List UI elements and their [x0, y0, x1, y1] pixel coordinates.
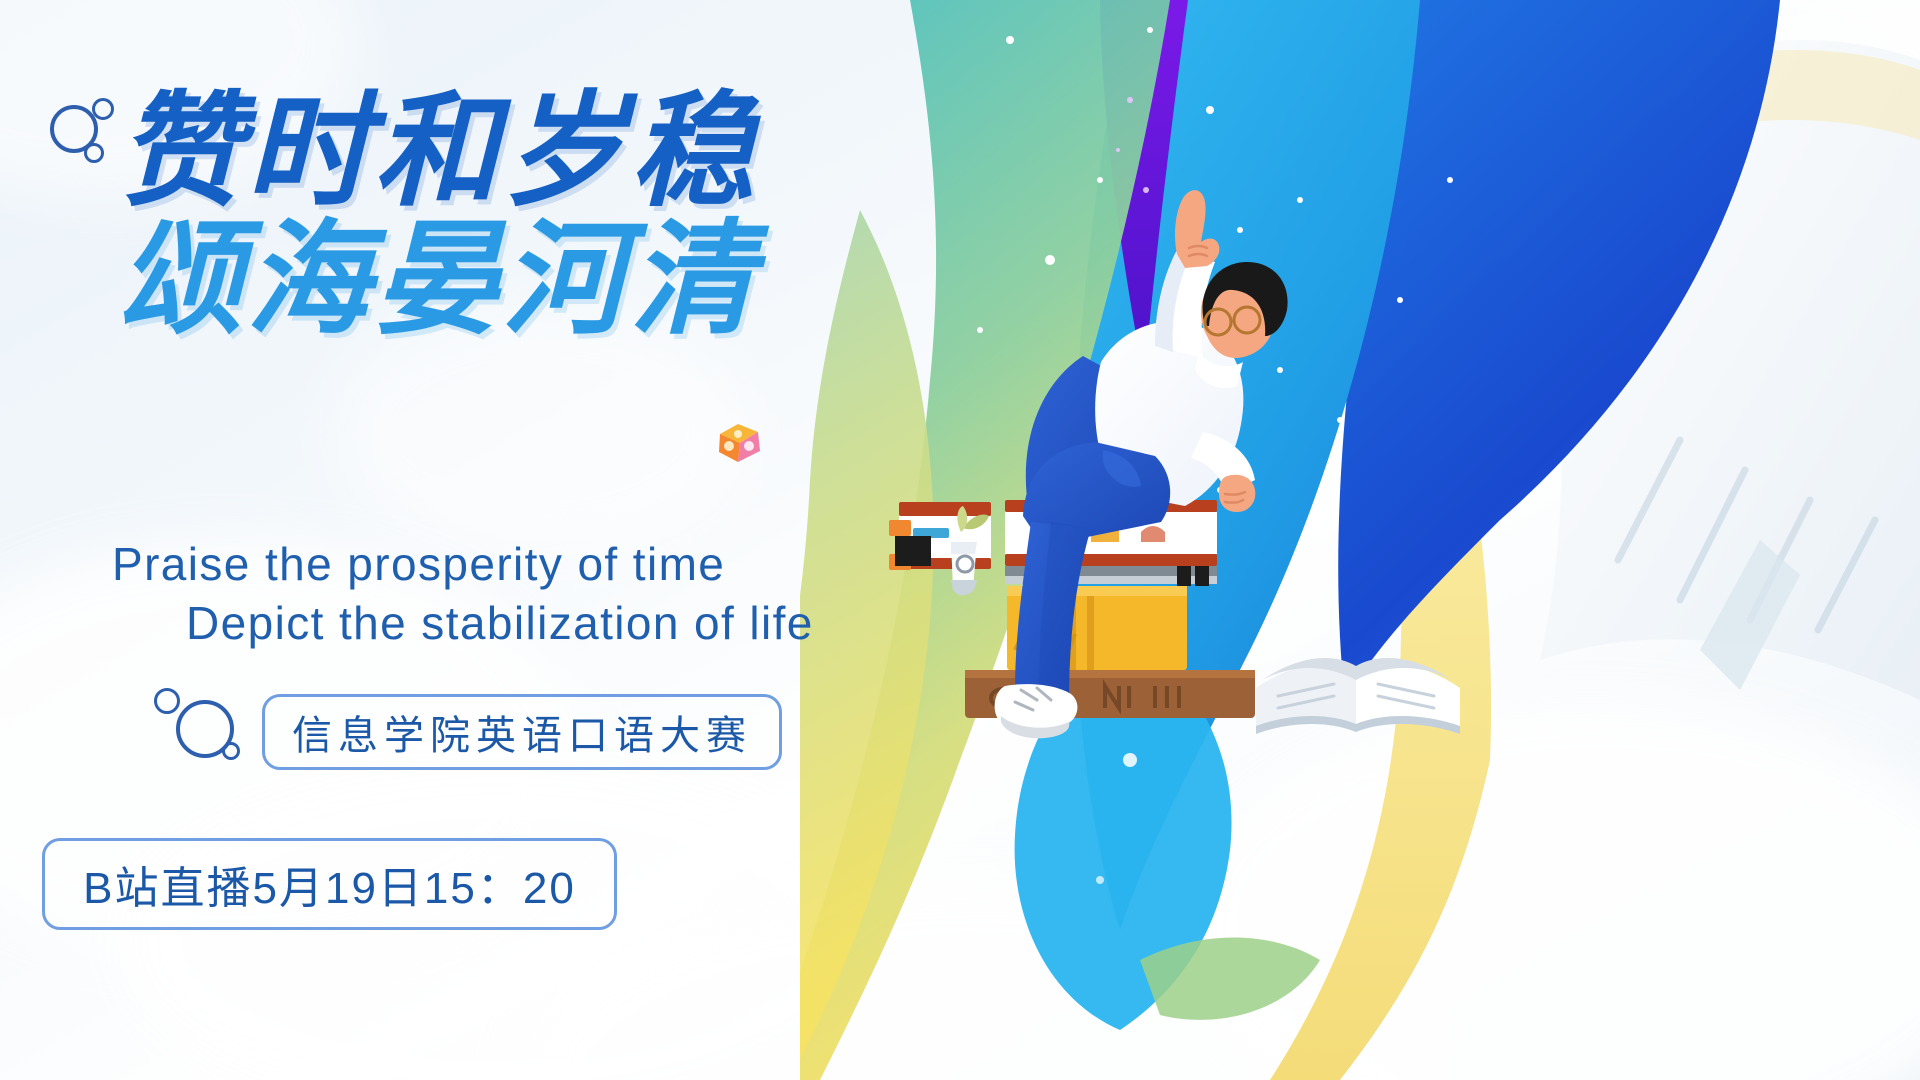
bubble-icon [222, 742, 240, 760]
english-subtitle: Praise the prosperity of time Depict the… [112, 535, 814, 653]
headline-line-1: 赞时和岁稳 [118, 92, 758, 214]
bubble-icon [154, 688, 180, 714]
live-stream-badge: B站直播5月19日15：20 [42, 838, 617, 930]
page-title: 赞时和岁稳 颂海晏河清 [118, 92, 758, 341]
poster-canvas: 赞时和岁稳 颂海晏河清 Praise the prosperity of tim… [0, 0, 1920, 1080]
headline-line-2: 颂海晏河清 [118, 220, 758, 342]
bubble-icon [84, 143, 104, 163]
bubble-icon [92, 98, 114, 120]
english-subtitle-line-1: Praise the prosperity of time [112, 538, 725, 590]
confetti-cube-icon [716, 418, 766, 468]
english-subtitle-line-2: Depict the stabilization of life [112, 594, 814, 653]
illustration-open-book [1248, 556, 1468, 736]
contest-name-badge: 信息学院英语口语大赛 [262, 694, 782, 770]
